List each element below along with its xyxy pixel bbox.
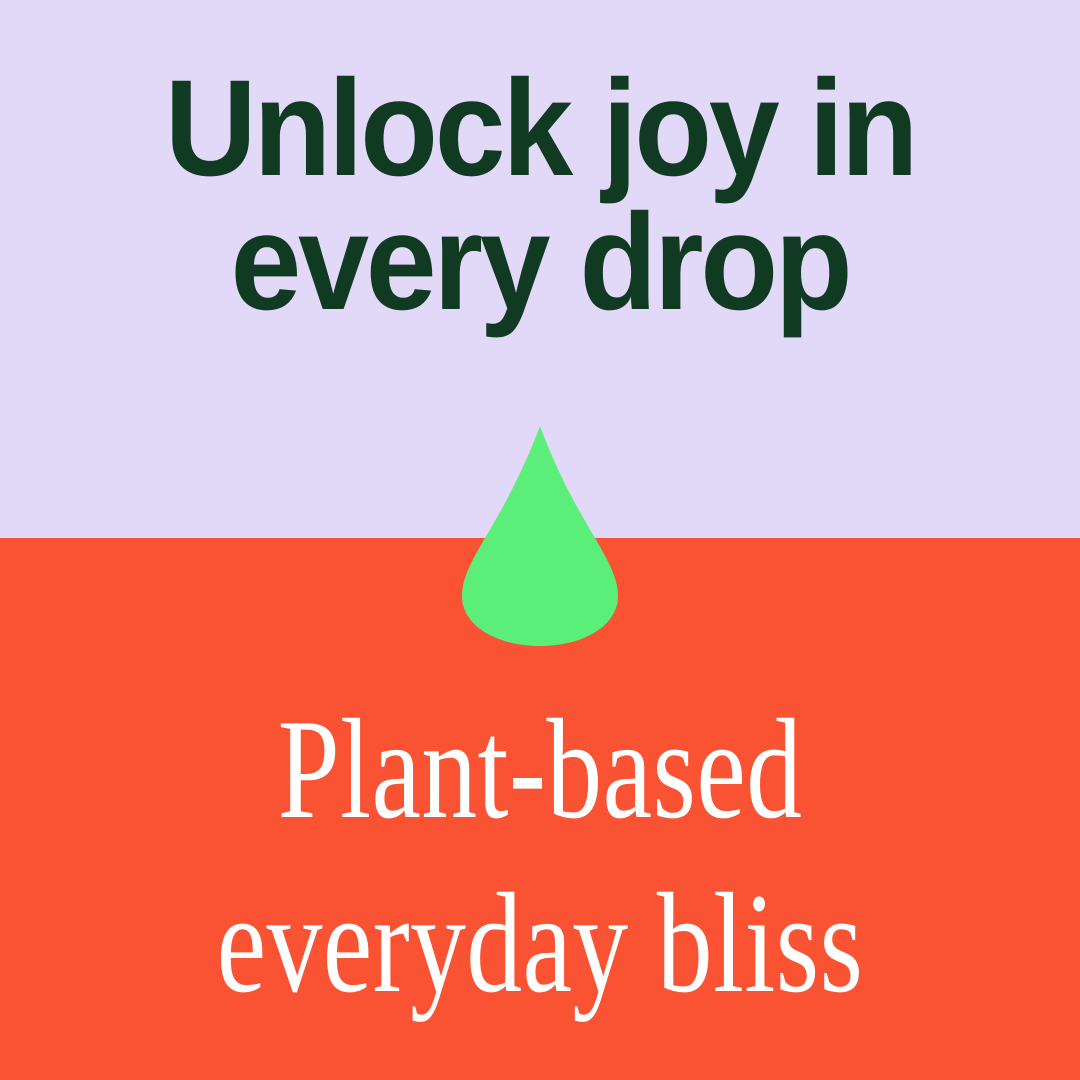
subhead: Plant-based everyday bliss <box>119 682 961 1031</box>
headline: Unlock joy in every drop <box>38 62 1042 331</box>
headline-line-1: Unlock joy in <box>38 62 1042 196</box>
subhead-line-1: Plant-based <box>119 682 961 856</box>
water-droplet-icon <box>458 420 622 650</box>
subhead-line-2: everyday bliss <box>119 856 961 1030</box>
headline-line-2: every drop <box>38 196 1042 330</box>
promo-poster: Unlock joy in every drop Plant-based eve… <box>0 0 1080 1080</box>
